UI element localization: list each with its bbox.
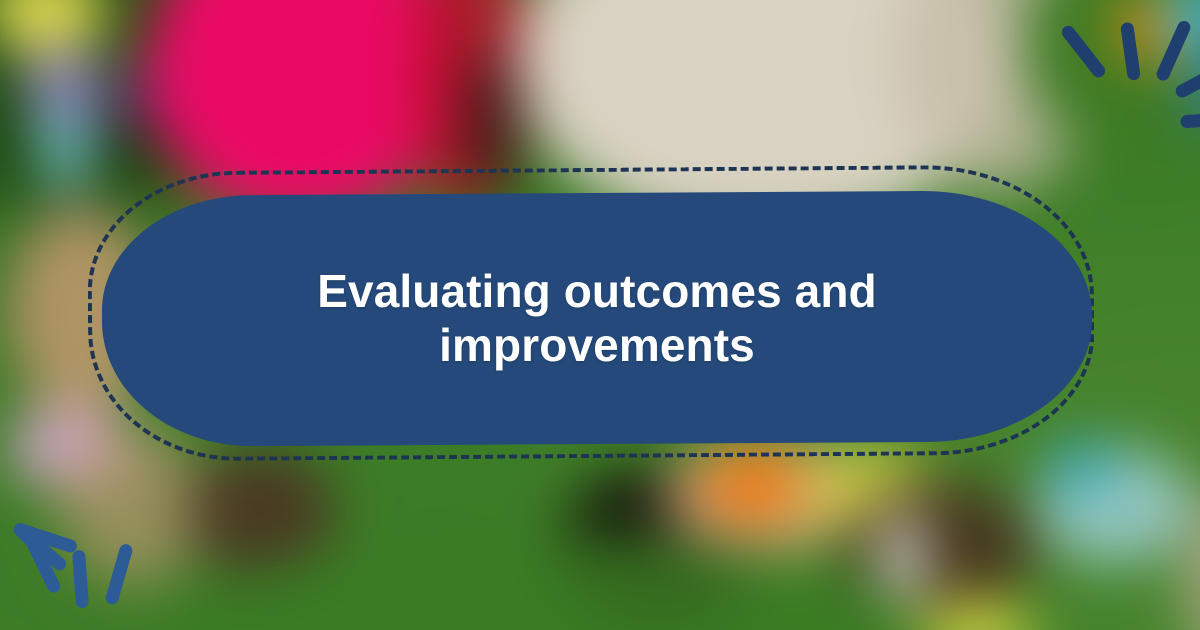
burst-ray-icon <box>1059 23 1107 80</box>
background-blob <box>706 447 801 521</box>
burst-ray-icon <box>1173 61 1200 100</box>
burst-ray-icon <box>1120 22 1141 81</box>
background-blob <box>1045 437 1119 501</box>
headline-card: Evaluating outcomes and improvements <box>101 190 1093 447</box>
sparkle-burst-icon <box>0 452 172 630</box>
burst-ray-icon <box>1180 111 1200 128</box>
burst-ray-icon <box>72 550 89 609</box>
sparkle-burst-icon <box>1062 0 1200 144</box>
background-blob <box>40 106 91 191</box>
page-title: Evaluating outcomes and improvements <box>217 264 977 373</box>
slide-canvas: Evaluating outcomes and improvements <box>0 0 1200 630</box>
burst-ray-icon <box>1155 19 1193 83</box>
burst-ray-icon <box>104 543 134 606</box>
